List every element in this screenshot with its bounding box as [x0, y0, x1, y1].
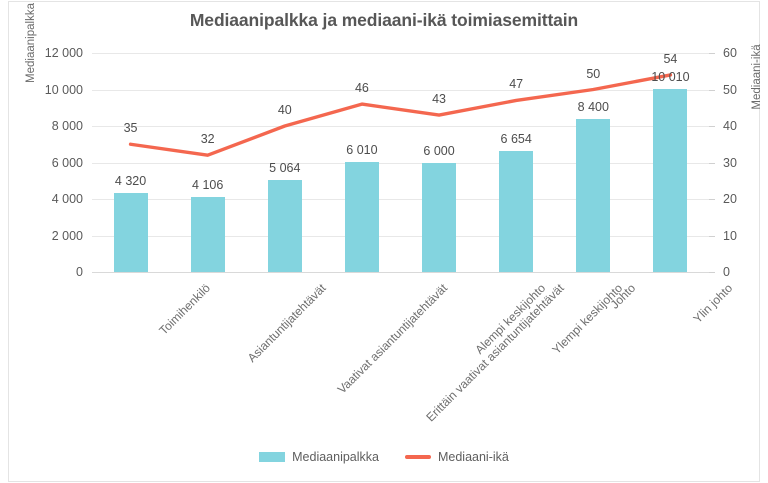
bar-value-label: 10 010: [651, 70, 689, 84]
y-axis-right-tick-label: 40: [723, 119, 737, 133]
chart-title: Mediaanipalkka ja mediaani-ikä toimiasem…: [9, 10, 759, 31]
bar-value-label: 8 400: [578, 100, 609, 114]
y-axis-right-title: Mediaani-ikä: [751, 17, 763, 137]
line-value-label: 47: [509, 77, 523, 91]
x-axis-category-label: Ylin johto: [691, 281, 736, 326]
y-axis-right-tick-label: 20: [723, 192, 737, 206]
y-axis-left-tick-label: 4 000: [52, 192, 83, 206]
legend-item-bar[interactable]: Mediaanipalkka: [259, 450, 379, 464]
y-axis-right-tick-label: 10: [723, 229, 737, 243]
y-axis-right-tick-label: 0: [723, 265, 730, 279]
line-value-label: 35: [124, 121, 138, 135]
y-axis-right-tickmark: [709, 53, 715, 54]
x-axis-category-label: Vaativat asiantuntijatehtävät: [335, 281, 450, 396]
line-value-label: 54: [663, 52, 677, 66]
bar-value-label: 4 106: [192, 178, 223, 192]
y-axis-right-tickmark: [709, 163, 715, 164]
y-axis-right-tickmark: [709, 90, 715, 91]
legend-label-line: Mediaani-ikä: [438, 450, 509, 464]
legend-bar-swatch-icon: [259, 452, 285, 462]
line-value-label: 43: [432, 92, 446, 106]
x-axis-category-label: Toimihenkilö: [156, 281, 213, 338]
y-axis-left-title: Mediaanipalkka (€/kk): [25, 0, 37, 102]
bar-value-label: 6 000: [423, 144, 454, 158]
bar-value-label: 6 010: [346, 143, 377, 157]
plot-area: 02 0004 0006 0008 00010 00012 000 010203…: [92, 53, 709, 272]
bar-value-label: 6 654: [501, 132, 532, 146]
line-value-label: 46: [355, 81, 369, 95]
y-axis-right-tick-label: 30: [723, 156, 737, 170]
bar-value-label: 5 064: [269, 161, 300, 175]
chart-legend: Mediaanipalkka Mediaani-ikä: [9, 450, 759, 464]
y-axis-left-tick-label: 0: [76, 265, 83, 279]
y-axis-right-tickmark: [709, 126, 715, 127]
y-axis-right-tickmark: [709, 199, 715, 200]
line-value-label: 50: [586, 67, 600, 81]
line-value-label: 32: [201, 132, 215, 146]
x-axis-category-label: Asiantuntijatehtävät: [244, 281, 328, 365]
y-axis-right-tick-label: 60: [723, 46, 737, 60]
legend-label-bar: Mediaanipalkka: [292, 450, 379, 464]
gridline: [92, 272, 709, 273]
y-axis-left-tick-label: 12 000: [45, 46, 83, 60]
line-series: [92, 53, 709, 272]
y-axis-left-tick-label: 6 000: [52, 156, 83, 170]
legend-line-swatch-icon: [405, 455, 431, 459]
y-axis-left-tick-label: 2 000: [52, 229, 83, 243]
chart-container: Mediaanipalkka ja mediaani-ikä toimiasem…: [8, 1, 760, 482]
line-value-label: 40: [278, 103, 292, 117]
y-axis-left-tick-label: 8 000: [52, 119, 83, 133]
legend-item-line[interactable]: Mediaani-ikä: [405, 450, 509, 464]
y-axis-right-tickmark: [709, 272, 715, 273]
y-axis-right-tickmark: [709, 236, 715, 237]
bar-value-label: 4 320: [115, 174, 146, 188]
x-axis-category-label: Erittäin vaativat asiantuntijatehtävät: [423, 281, 566, 424]
y-axis-left-tick-label: 10 000: [45, 83, 83, 97]
y-axis-right-tick-label: 50: [723, 83, 737, 97]
